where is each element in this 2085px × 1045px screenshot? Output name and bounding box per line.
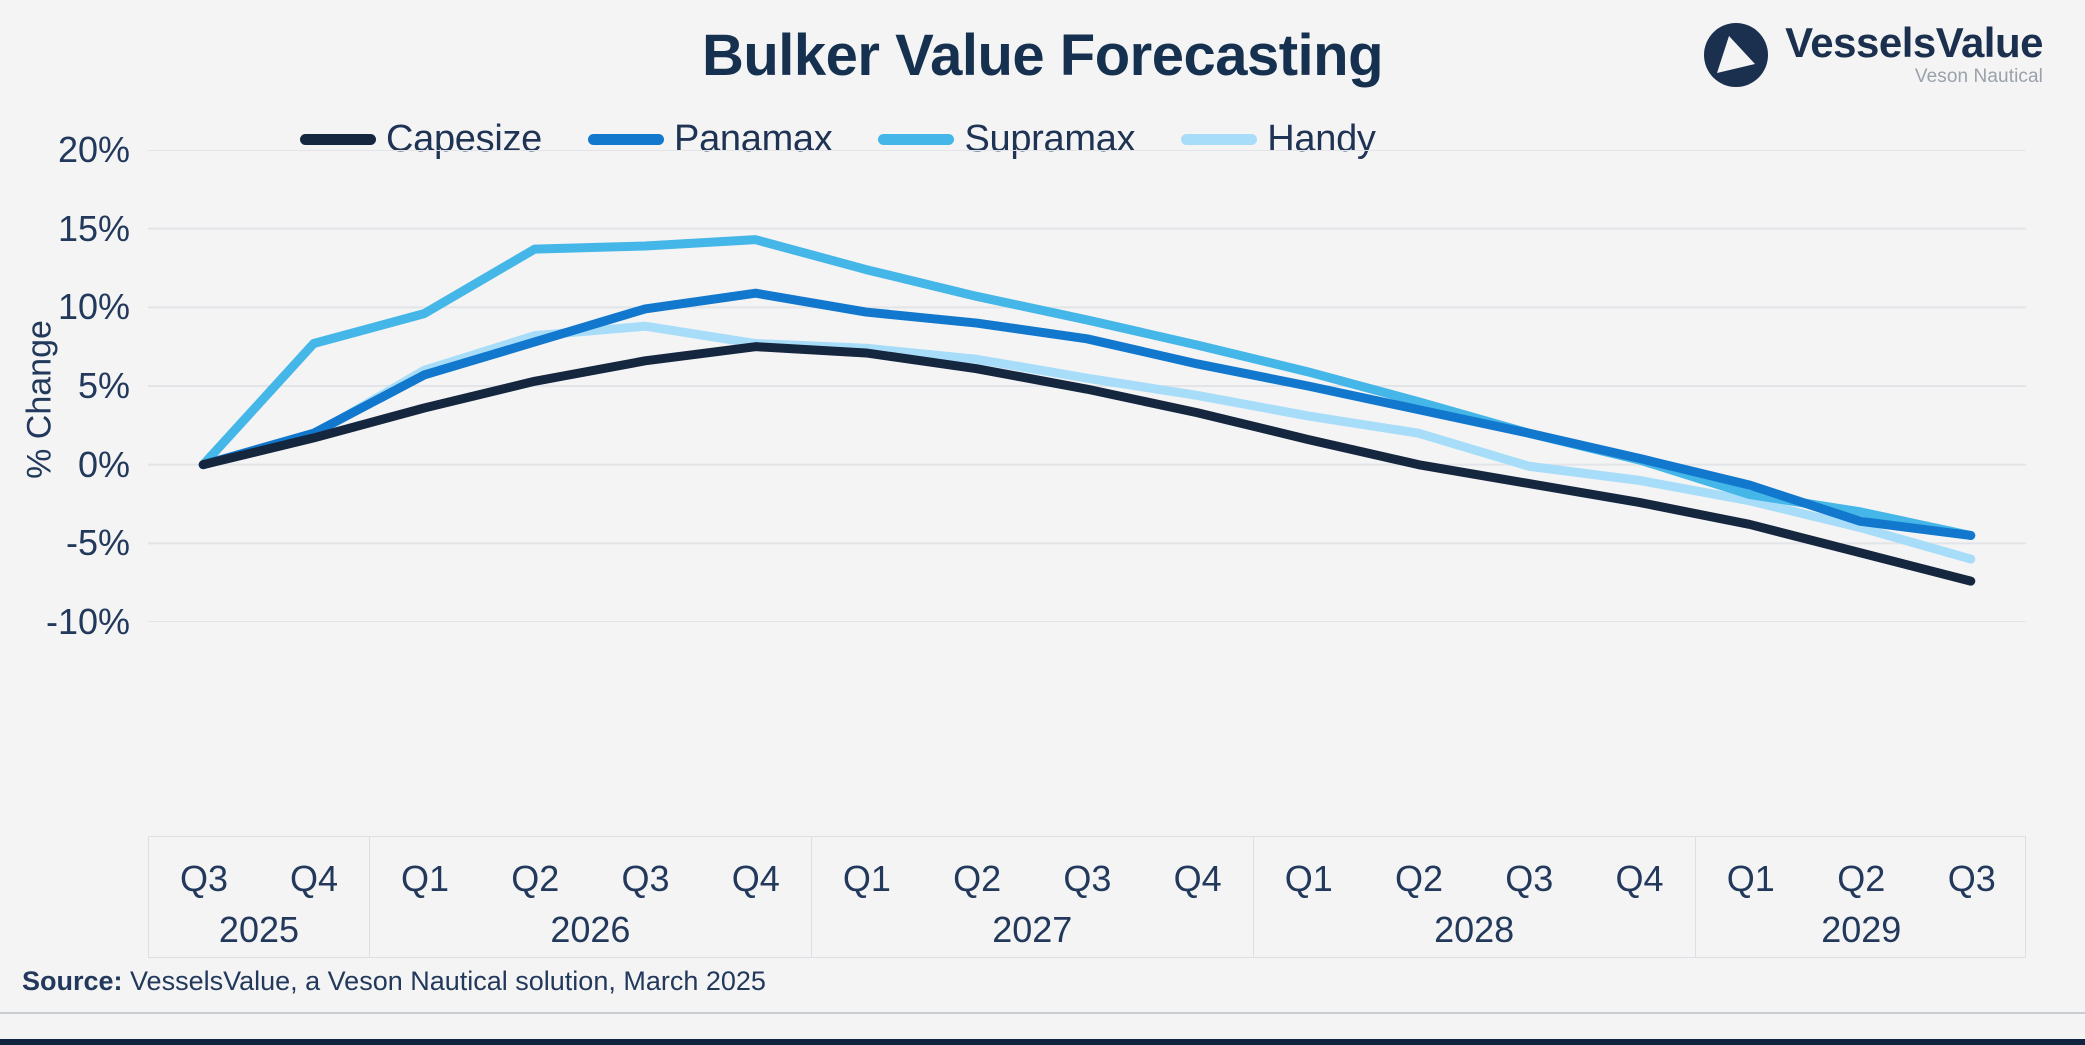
x-tick-label-quarter: Q3 [1474,861,1584,899]
x-tick-label-quarter: Q3 [590,861,700,899]
footer-divider [0,1012,2085,1014]
source-label: Source: [22,966,123,996]
x-tick-label-year: 2029 [1696,899,2027,957]
x-axis: Q3Q42025Q1Q2Q3Q42026Q1Q2Q3Q42027Q1Q2Q3Q4… [148,836,2026,958]
x-tick-label-year: 2025 [149,899,369,957]
source-text: VesselsValue, a Veson Nautical solution,… [123,966,766,996]
source-note: Source: VesselsValue, a Veson Nautical s… [22,966,766,997]
vesselsvalue-logo-icon [1703,22,1769,88]
x-tick-label-year: 2027 [812,899,1253,957]
y-tick-label: -10% [46,601,130,643]
x-axis-year-group-2029: Q1Q2Q32029 [1696,837,2027,957]
x-tick-label-quarter: Q4 [1584,861,1694,899]
brand-logo: VesselsValue Veson Nautical [1703,22,2043,88]
x-tick-label-quarter: Q2 [1806,861,1916,899]
x-axis-year-group-2026: Q1Q2Q3Q42026 [370,837,812,957]
x-tick-label-quarter: Q1 [370,861,480,899]
x-tick-label-quarter: Q4 [259,861,369,899]
x-axis-year-group-2025: Q3Q42025 [149,837,370,957]
x-tick-label-quarter: Q2 [480,861,590,899]
x-tick-label-quarter: Q4 [1142,861,1252,899]
y-axis-ticks: 20%15%10%5%0%-5%-10% [0,150,130,622]
x-axis-quarter-row: Q1Q2Q3Q4 [370,837,811,899]
x-tick-label-quarter: Q3 [1032,861,1142,899]
x-axis-quarter-row: Q1Q2Q3Q4 [812,837,1253,899]
logo-subtitle: Veson Nautical [1915,67,2043,88]
y-tick-label: 0% [78,444,130,486]
x-tick-label-quarter: Q4 [701,861,811,899]
y-tick-label: 15% [58,208,130,250]
y-tick-label: 10% [58,286,130,328]
x-axis-year-group-2027: Q1Q2Q3Q42027 [812,837,1254,957]
y-tick-label: 20% [58,129,130,171]
legend-swatch-icon [300,134,376,145]
y-axis-title: % Change [21,250,60,550]
line-chart-svg [148,150,2026,622]
x-tick-label-year: 2028 [1254,899,1695,957]
x-tick-label-year: 2026 [370,899,811,957]
x-tick-label-quarter: Q1 [1254,861,1364,899]
x-axis-year-group-2028: Q1Q2Q3Q42028 [1254,837,1696,957]
legend-swatch-icon [1181,134,1257,145]
y-tick-label: 5% [78,365,130,407]
series-line-panamax[interactable] [203,293,1971,535]
chart-page: Bulker Value Forecasting VesselsValue Ve… [0,0,2085,1045]
x-tick-label-quarter: Q3 [1917,861,2027,899]
plot-area [148,150,2026,622]
x-tick-label-quarter: Q1 [1696,861,1806,899]
legend-swatch-icon [878,134,954,145]
x-tick-label-quarter: Q2 [1364,861,1474,899]
x-tick-label-quarter: Q2 [922,861,1032,899]
x-tick-label-quarter: Q1 [812,861,922,899]
x-axis-quarter-row: Q1Q2Q3 [1696,837,2027,899]
x-axis-quarter-row: Q3Q4 [149,837,369,899]
legend-swatch-icon [588,134,664,145]
logo-wordmark: VesselsValue [1785,22,2043,65]
y-tick-label: -5% [66,522,130,564]
x-axis-quarter-row: Q1Q2Q3Q4 [1254,837,1695,899]
x-tick-label-quarter: Q3 [149,861,259,899]
